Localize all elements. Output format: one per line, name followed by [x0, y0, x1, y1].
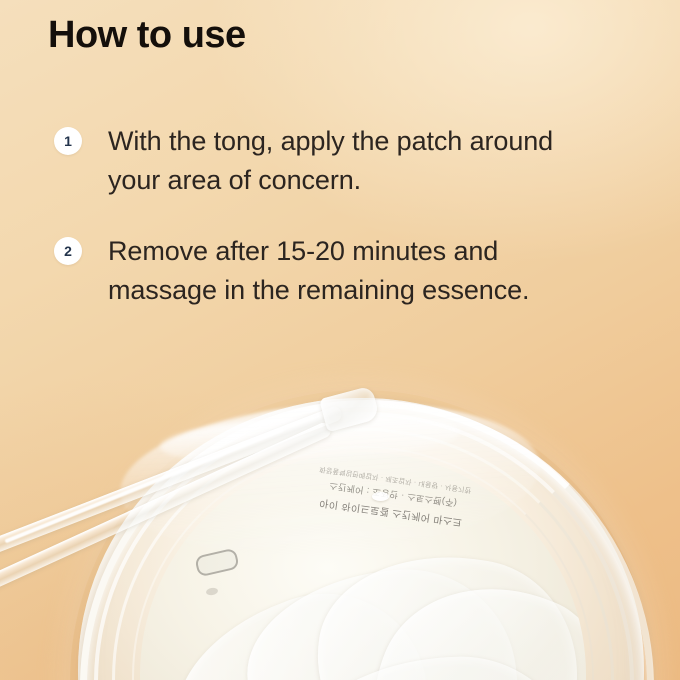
hydrogel-patch: [335, 551, 586, 680]
hydrogel-patch: [151, 565, 451, 680]
lid-molded-tab: [194, 548, 240, 578]
jar-lid-rim-innermost: [132, 446, 594, 680]
tong-hinge: [0, 545, 1, 583]
tong-lower-arm: [0, 421, 333, 594]
list-item: 1 With the tong, apply the patch around …: [54, 122, 634, 200]
product-photo: 아이 하이드로겔 스킨케어 마스크 스킨케어 : 조정안 · 스토스펜(주) 화…: [0, 352, 680, 680]
hydrogel-patch: [300, 537, 586, 680]
lid-print-line-3: 화장품책임판매업자 · 제조업자 · 내용량 · 사용기한: [231, 449, 560, 508]
tong-highlight: [4, 427, 284, 543]
jar-body: [78, 398, 644, 680]
gel-texture: [290, 648, 586, 680]
how-to-use-panel: How to use 1 With the tong, apply the pa…: [0, 0, 680, 680]
jar-contents: [140, 452, 586, 680]
hydrogel-patch: [284, 651, 585, 680]
lid-gloss-highlight: [115, 390, 544, 569]
page-title: How to use: [48, 12, 246, 60]
jar-edge-shadow: [70, 390, 652, 680]
lid-gloss-highlight-secondary: [159, 408, 461, 470]
step-text: With the tong, apply the patch around yo…: [108, 122, 578, 200]
lid-korean-print: 아이 하이드로겔 스킨케어 마스크 스킨케어 : 조정안 · 스토스펜(주) 화…: [226, 449, 560, 544]
jar-lid-rim-mid: [94, 412, 634, 680]
lid-print-line-2: 스킨케어 : 조정안 · 스토스펜(주): [229, 462, 558, 525]
step-number-badge: 2: [54, 237, 82, 265]
tong-tip: [319, 385, 380, 432]
hydrogel-patch: [238, 559, 526, 680]
list-item: 2 Remove after 15-20 minutes and massage…: [54, 232, 634, 310]
lid-molded-dot: [205, 587, 218, 596]
steps-list: 1 With the tong, apply the patch around …: [54, 122, 634, 342]
lid-print-line-1: 아이 하이드로겔 스킨케어 마스크: [226, 479, 555, 544]
jar-lid-rim-inner: [112, 428, 614, 680]
tong-tweezers: [0, 389, 385, 602]
step-text: Remove after 15-20 minutes and massage i…: [108, 232, 578, 310]
lid-dimple: [372, 492, 389, 501]
step-number-badge: 1: [54, 127, 82, 155]
jar-lid-rim-outer: [80, 400, 654, 680]
tong-upper-arm: [0, 405, 344, 564]
